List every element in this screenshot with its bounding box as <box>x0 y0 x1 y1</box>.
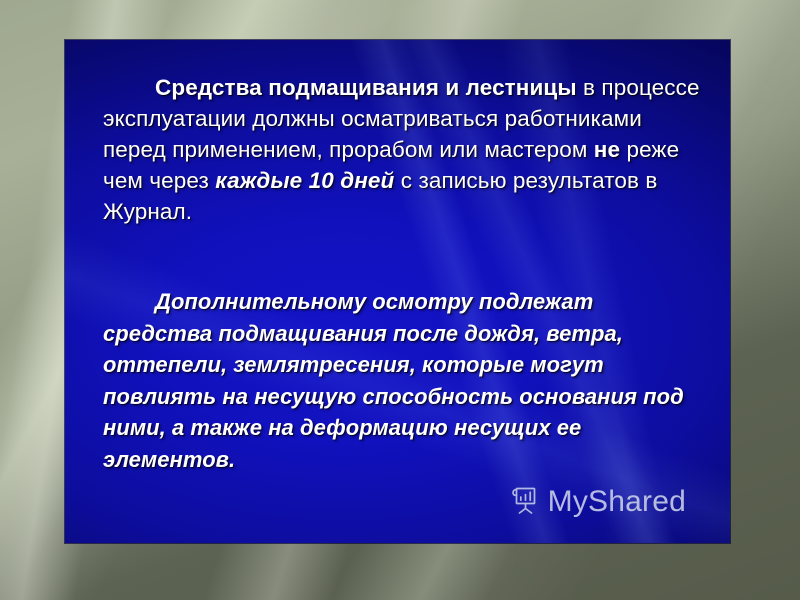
paragraph-one-lead-bold: Средства подмащивания и лестницы <box>155 75 577 100</box>
myshared-watermark: MyShared <box>507 482 686 521</box>
myshared-label: MyShared <box>548 487 686 517</box>
paragraph-one: Средства подмащивания и лестницы в проце… <box>103 72 704 227</box>
slide-panel: Средства подмащивания и лестницы в проце… <box>65 40 730 543</box>
paragraph-two: Дополнительному осмотру подлежат средств… <box>103 286 704 475</box>
paragraph-one-bold-ne: не <box>594 137 620 162</box>
presentation-chart-icon <box>507 482 541 521</box>
slide-screenshot: Средства подмащивания и лестницы в проце… <box>0 0 800 600</box>
slide-text-body: Средства подмащивания и лестницы в проце… <box>103 72 704 533</box>
paragraph-one-bold-italic-period: каждые 10 дней <box>215 168 394 193</box>
